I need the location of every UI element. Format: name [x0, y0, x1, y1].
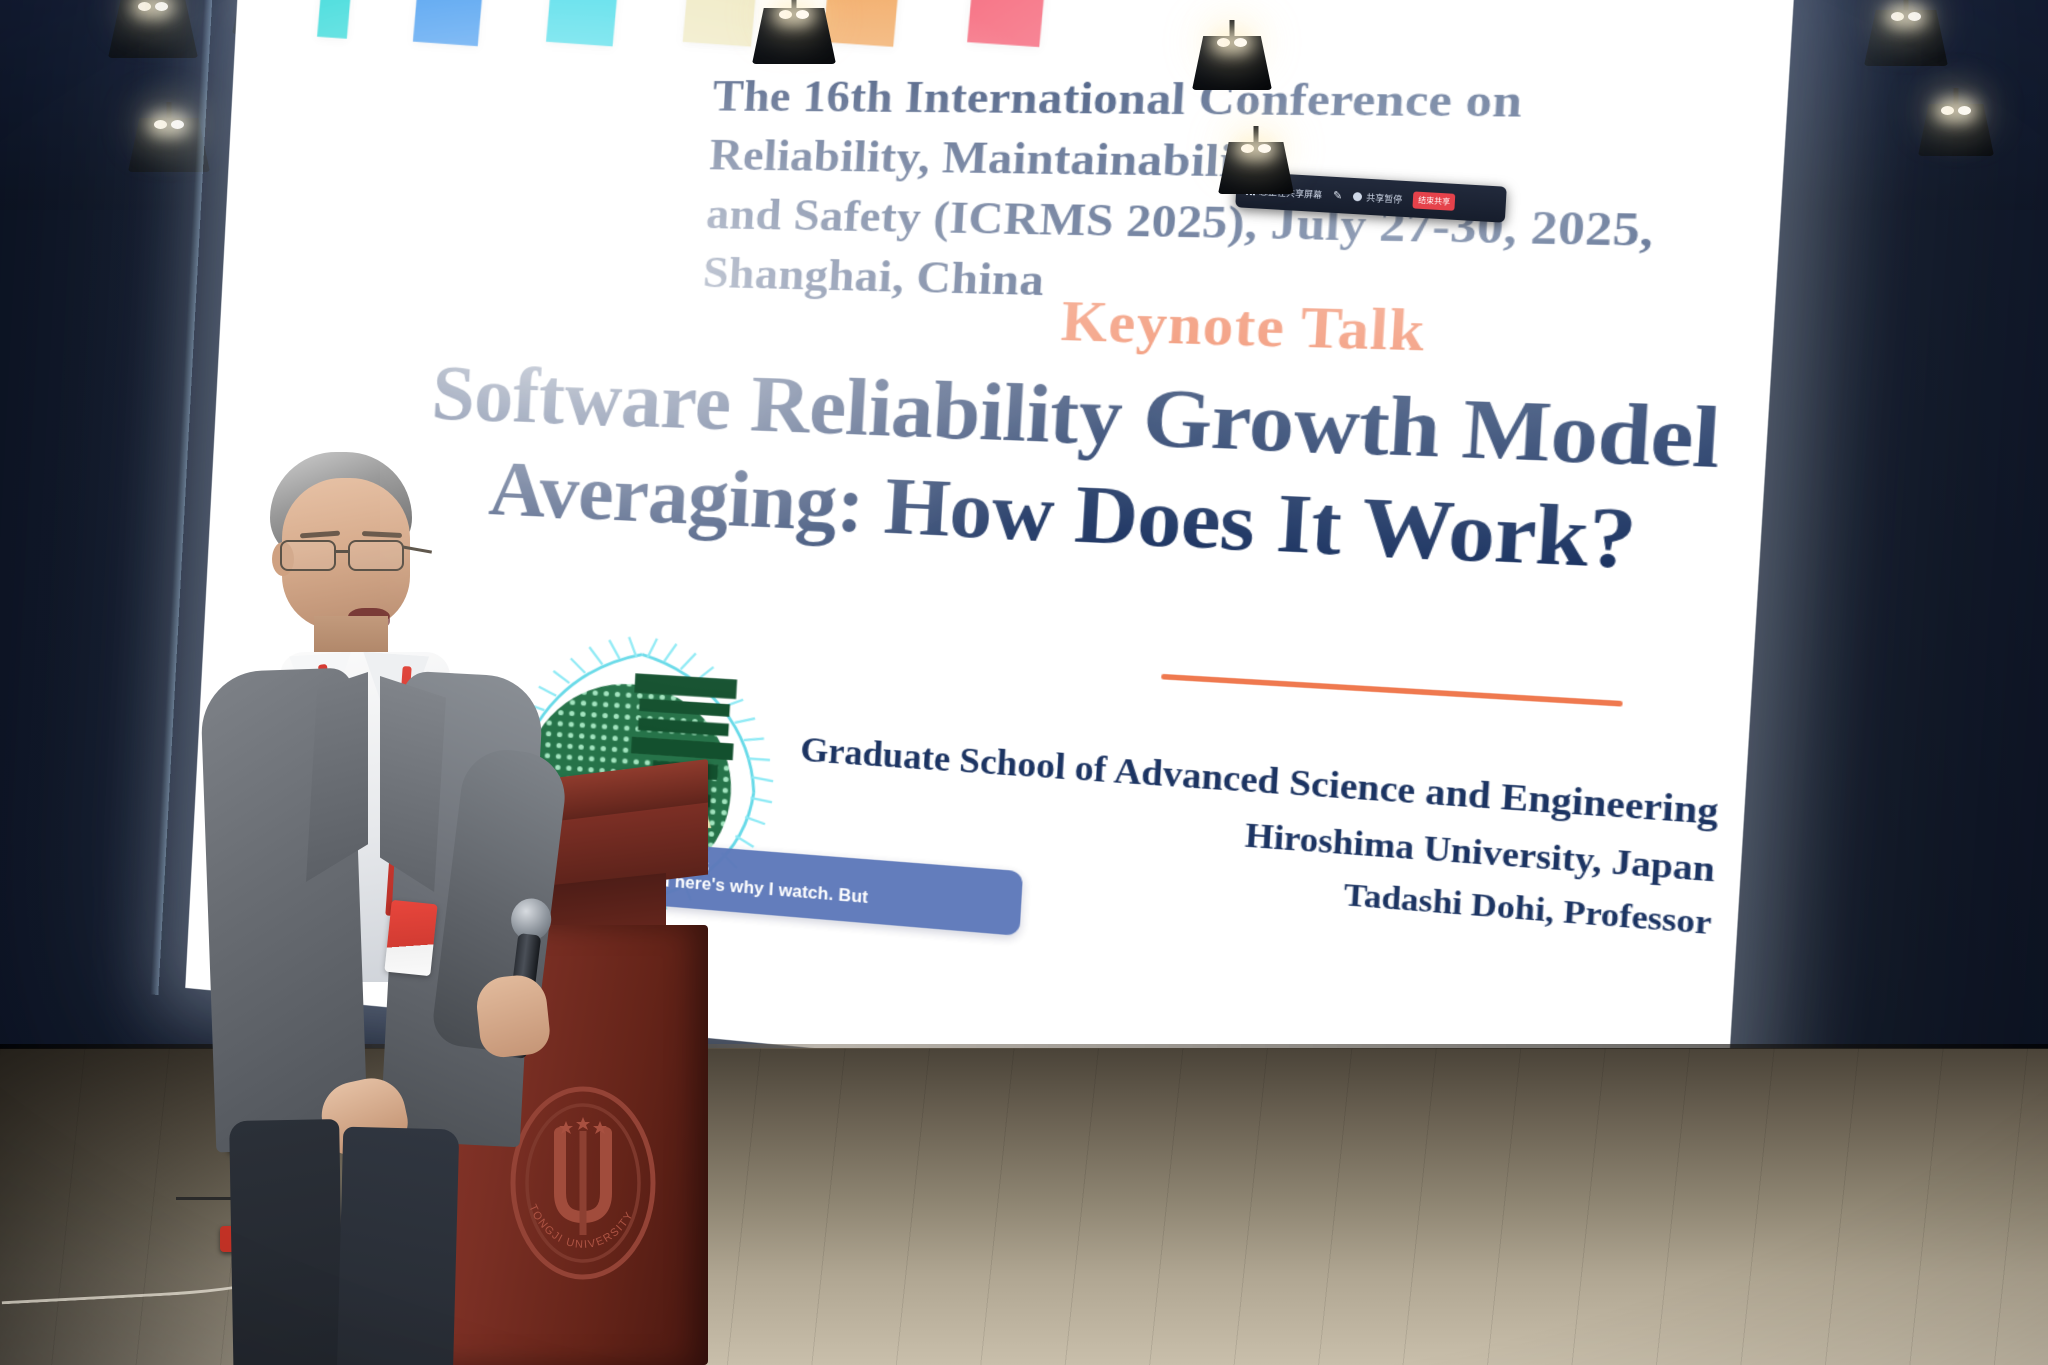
- stage-scene: The 16th International Conference on Rel…: [0, 0, 2048, 1365]
- chip-cream: [683, 0, 757, 47]
- stage-light-icon: [752, 8, 836, 64]
- stage-light-icon: [1918, 104, 1994, 156]
- eyeglasses-icon: [274, 540, 426, 574]
- slide-color-chips: [318, 0, 1045, 45]
- stop-share-button[interactable]: 结束共享: [1413, 191, 1456, 210]
- pause-share-button[interactable]: 共享暂停: [1353, 189, 1403, 205]
- conference-badge: [384, 900, 437, 976]
- stage-light-icon: [1864, 10, 1948, 66]
- chip-blue: [413, 0, 483, 46]
- pause-icon: [1353, 191, 1363, 201]
- title-underline-rule: [1161, 674, 1623, 707]
- chip-cyan: [546, 0, 618, 46]
- stage-light-icon: [108, 0, 198, 58]
- annotate-pen-icon[interactable]: ✎: [1333, 188, 1343, 202]
- pause-share-label: 共享暂停: [1366, 190, 1403, 205]
- speaker-trouser-left: [229, 1119, 349, 1365]
- speaker-presenter: [210, 420, 630, 1365]
- speaker-trouser-right: [329, 1127, 460, 1365]
- chip-coral: [967, 0, 1045, 47]
- stage-light-icon: [1218, 142, 1294, 194]
- chip-teal: [317, 0, 351, 39]
- stage-light-icon: [1192, 36, 1272, 90]
